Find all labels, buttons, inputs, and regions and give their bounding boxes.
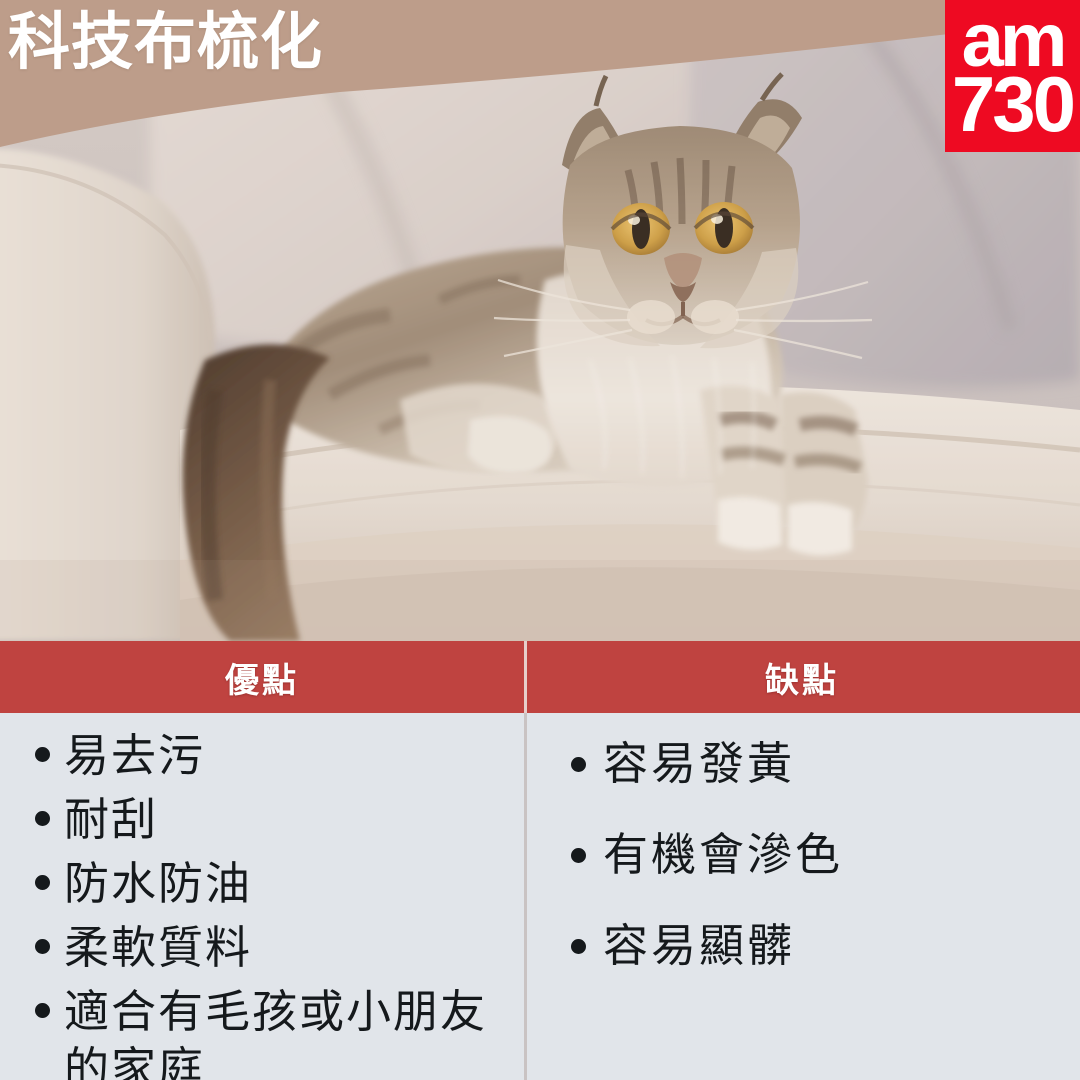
cat-on-sofa-photo	[0, 0, 1080, 641]
list-item: 防水防油	[35, 855, 524, 912]
column-header-cons: 缺點	[524, 641, 1080, 713]
infographic-page: 科技布梳化 am 730 優點 缺點 易去污 耐刮 防水防油	[0, 0, 1080, 1080]
bullet-icon	[35, 875, 50, 890]
list-item-label: 容易顯髒	[603, 917, 1080, 975]
list-item: 適合有毛孩或小朋友的家庭	[35, 983, 524, 1080]
bullet-icon	[35, 1003, 50, 1018]
list-item: 柔軟質料	[35, 919, 524, 976]
logo-text-730: 730	[945, 66, 1080, 142]
bullet-icon	[571, 939, 586, 954]
list-item: 容易發黃	[571, 735, 1080, 793]
bullet-icon	[35, 811, 50, 826]
bullet-icon	[35, 747, 50, 762]
list-item-label: 易去污	[64, 727, 516, 784]
bullet-icon	[35, 939, 50, 954]
comparison-table-header: 優點 缺點	[0, 641, 1080, 713]
column-divider	[524, 713, 527, 1080]
pros-column: 易去污 耐刮 防水防油 柔軟質料 適合有毛孩或小朋友的家庭	[0, 713, 524, 1080]
header-divider	[524, 641, 527, 713]
photo-illustration	[0, 0, 1080, 641]
comparison-table-body: 易去污 耐刮 防水防油 柔軟質料 適合有毛孩或小朋友的家庭	[0, 713, 1080, 1080]
cons-column: 容易發黃 有機會滲色 容易顯髒	[527, 713, 1080, 1080]
cons-list: 容易發黃 有機會滲色 容易顯髒	[571, 735, 1080, 975]
list-item-label: 耐刮	[64, 791, 516, 848]
column-header-pros: 優點	[0, 641, 524, 713]
list-item-label: 適合有毛孩或小朋友的家庭	[64, 983, 516, 1080]
list-item-label: 有機會滲色	[603, 826, 1080, 884]
pros-list: 易去污 耐刮 防水防油 柔軟質料 適合有毛孩或小朋友的家庭	[35, 727, 524, 1080]
list-item-label: 容易發黃	[603, 735, 1080, 793]
list-item: 有機會滲色	[571, 826, 1080, 884]
bullet-icon	[571, 848, 586, 863]
am730-logo: am 730	[945, 0, 1080, 152]
page-title: 科技布梳化	[8, 10, 323, 75]
list-item: 耐刮	[35, 791, 524, 848]
bullet-icon	[571, 757, 586, 772]
list-item: 易去污	[35, 727, 524, 784]
list-item-label: 防水防油	[64, 855, 516, 912]
list-item: 容易顯髒	[571, 917, 1080, 975]
list-item-label: 柔軟質料	[64, 919, 516, 976]
